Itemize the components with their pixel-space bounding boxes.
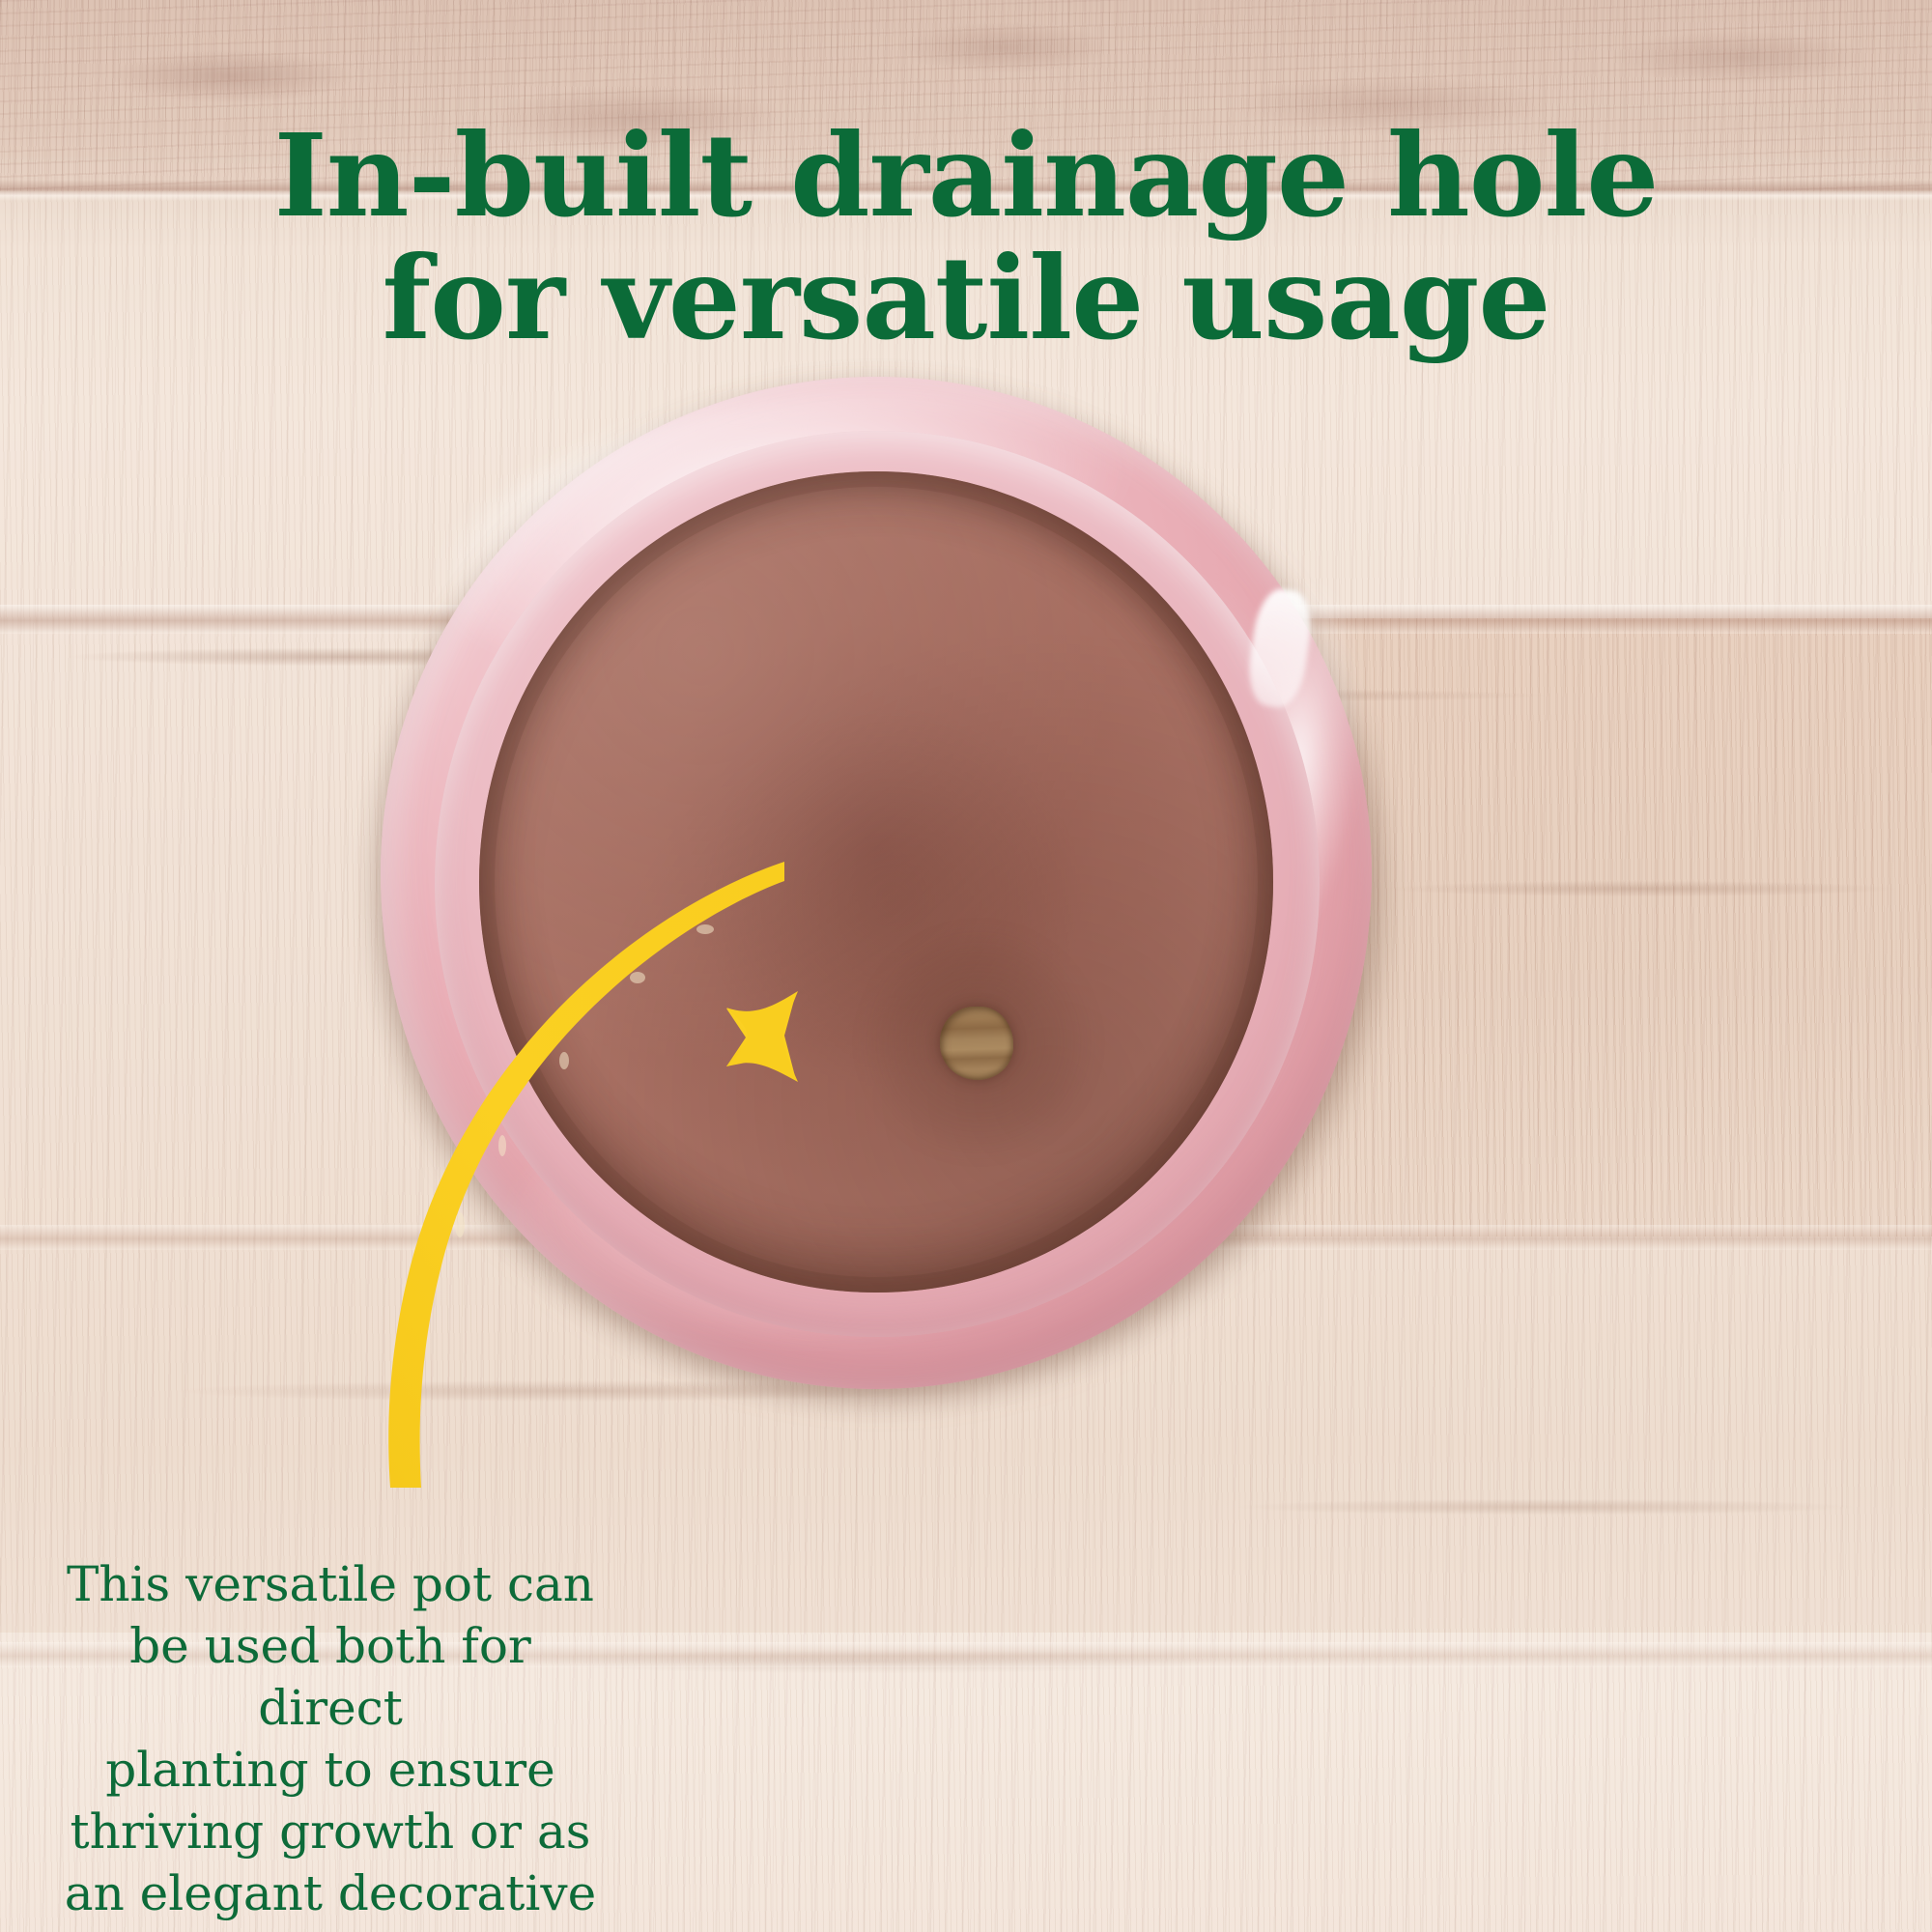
plant-pot (365, 365, 1389, 1404)
drainage-hole (940, 1007, 1013, 1080)
page-title: In-built drainage hole for versatile usa… (0, 114, 1932, 360)
product-feature-graphic: In-built drainage hole for versatile usa… (0, 0, 1932, 1932)
feature-description: This versatile pot can be used both for … (50, 1553, 611, 1932)
pot-interior-wall-shadow (479, 471, 1273, 1293)
